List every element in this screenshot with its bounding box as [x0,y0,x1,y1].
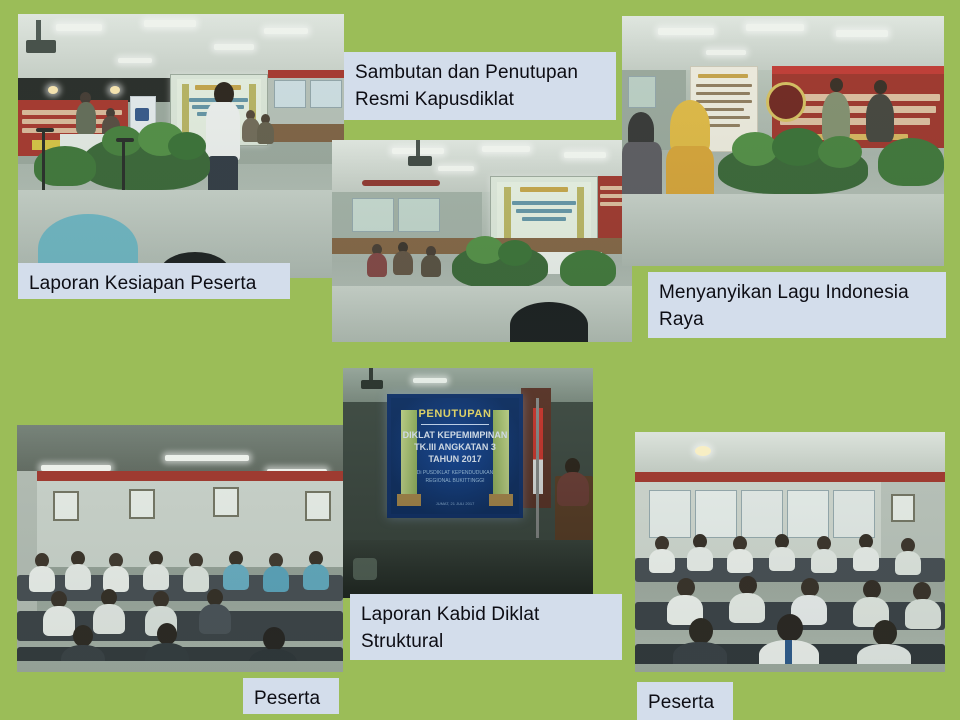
photo-top-center-scene [332,140,632,342]
slide-canvas: PENUTUPAN DIKLAT KEPEMIMPINAN TK.III ANG… [0,0,960,720]
caption-sambutan[interactable]: Sambutan dan Penutupan Resmi Kapusdiklat [344,52,616,120]
photo-center-scene: PENUTUPAN DIKLAT KEPEMIMPINAN TK.III ANG… [343,368,593,598]
caption-peserta-left[interactable]: Peserta [243,678,339,714]
photo-haze [17,425,343,672]
photo-haze [622,16,944,266]
photo-haze [18,14,344,278]
photo-center[interactable]: PENUTUPAN DIKLAT KEPEMIMPINAN TK.III ANG… [343,368,593,598]
caption-laporan-kesiapan[interactable]: Laporan Kesiapan Peserta [18,263,290,299]
caption-peserta-right[interactable]: Peserta [637,682,733,720]
photo-bottom-right-scene [635,432,945,672]
photo-top-left[interactable] [18,14,344,278]
photo-top-center[interactable] [332,140,632,342]
photo-bottom-left-scene [17,425,343,672]
photo-haze [343,368,593,598]
photo-top-left-scene [18,14,344,278]
caption-menyanyikan[interactable]: Menyanyikan Lagu Indonesia Raya [648,272,946,338]
photo-haze [332,140,632,342]
photo-top-right-scene [622,16,944,266]
photo-bottom-left[interactable] [17,425,343,672]
caption-laporan-kabid[interactable]: Laporan Kabid Diklat Struktural [350,594,622,660]
photo-bottom-right[interactable] [635,432,945,672]
photo-top-right[interactable] [622,16,944,266]
photo-haze [635,432,945,672]
